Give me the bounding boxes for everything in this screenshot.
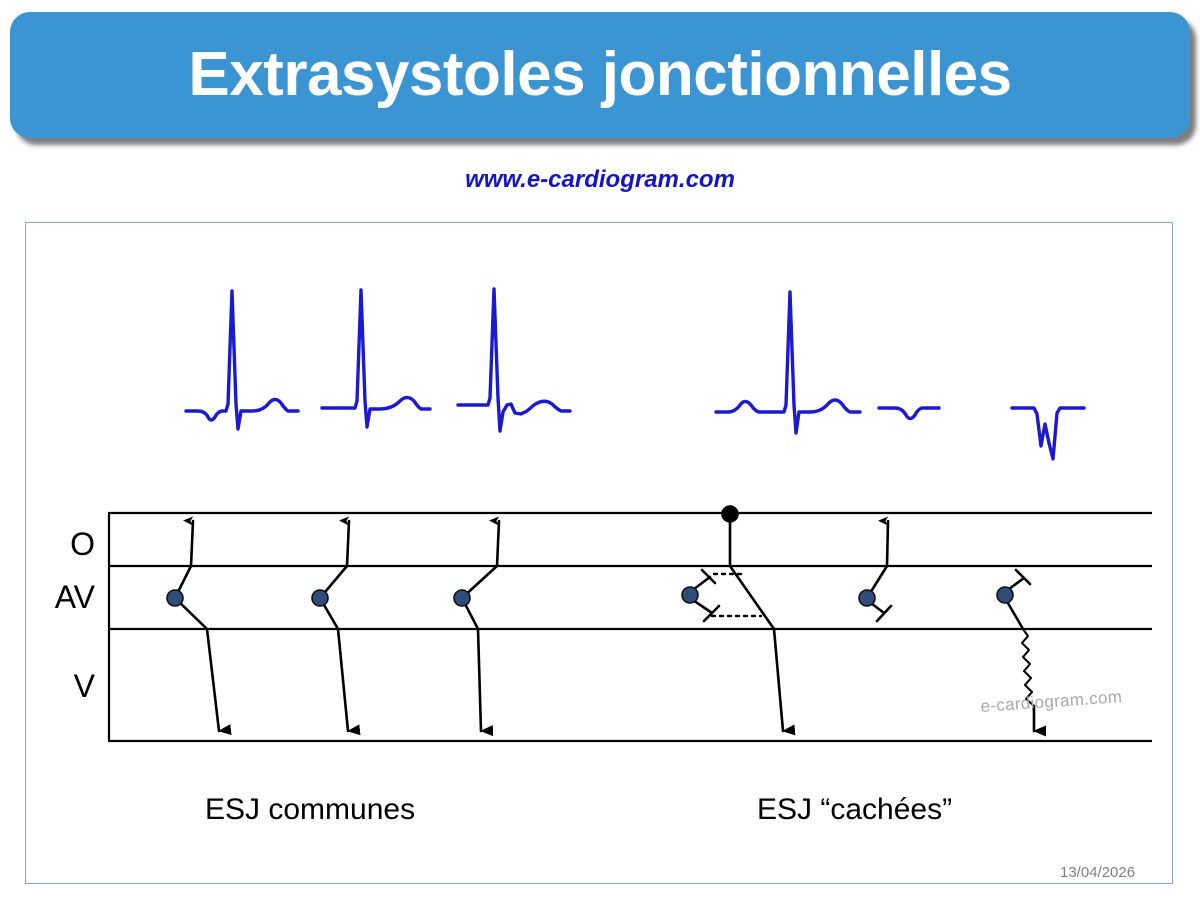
retrograde-path-3 — [462, 521, 499, 598]
slide-date: 13/04/2026 — [1060, 864, 1135, 881]
ladder-event-esj-2 — [320, 521, 349, 731]
sinus-node-marker-5 — [722, 506, 738, 522]
ladder-node-1 — [167, 590, 183, 606]
ecg-beat-6 — [1012, 408, 1084, 459]
retrograde-path-2 — [320, 521, 349, 598]
tier-label-atria: O — [25, 526, 95, 563]
caption-esj-communes: ESJ communes — [205, 793, 415, 827]
ladder-event-sinus-5 — [730, 514, 783, 731]
retrograde-path-1 — [175, 521, 193, 598]
ecg-beat-3 — [458, 289, 570, 431]
anterograde-path-1 — [175, 598, 219, 731]
ladder-event-esj-3 — [462, 521, 499, 731]
ladder-node-3 — [454, 590, 470, 606]
ecg-trace-group-hidden — [716, 292, 1084, 459]
ecg-beat-5 — [879, 408, 939, 419]
tier-label-av-node: AV — [25, 579, 95, 616]
ladder-node-6 — [859, 590, 875, 606]
ecg-beat-1 — [186, 291, 298, 429]
ladder-node-2 — [312, 590, 328, 606]
ecg-ladder-diagram — [0, 0, 1200, 900]
caption-esj-cachees: ESJ “cachées” — [757, 793, 952, 827]
ecg-beat-2 — [322, 290, 430, 427]
ladder-node-7 — [997, 587, 1013, 603]
tier-label-ventricles: V — [25, 668, 95, 705]
ladder-node-4 — [682, 587, 698, 603]
anterograde-path-3 — [462, 598, 481, 731]
ecg-beat-4 — [716, 292, 860, 433]
ecg-trace-group-common — [186, 289, 570, 431]
sinus-conduction-path-5 — [730, 514, 783, 731]
ladder-event-esj-1 — [175, 521, 219, 731]
anterograde-path-2 — [320, 598, 348, 731]
retrograde-path-6 — [867, 521, 888, 598]
